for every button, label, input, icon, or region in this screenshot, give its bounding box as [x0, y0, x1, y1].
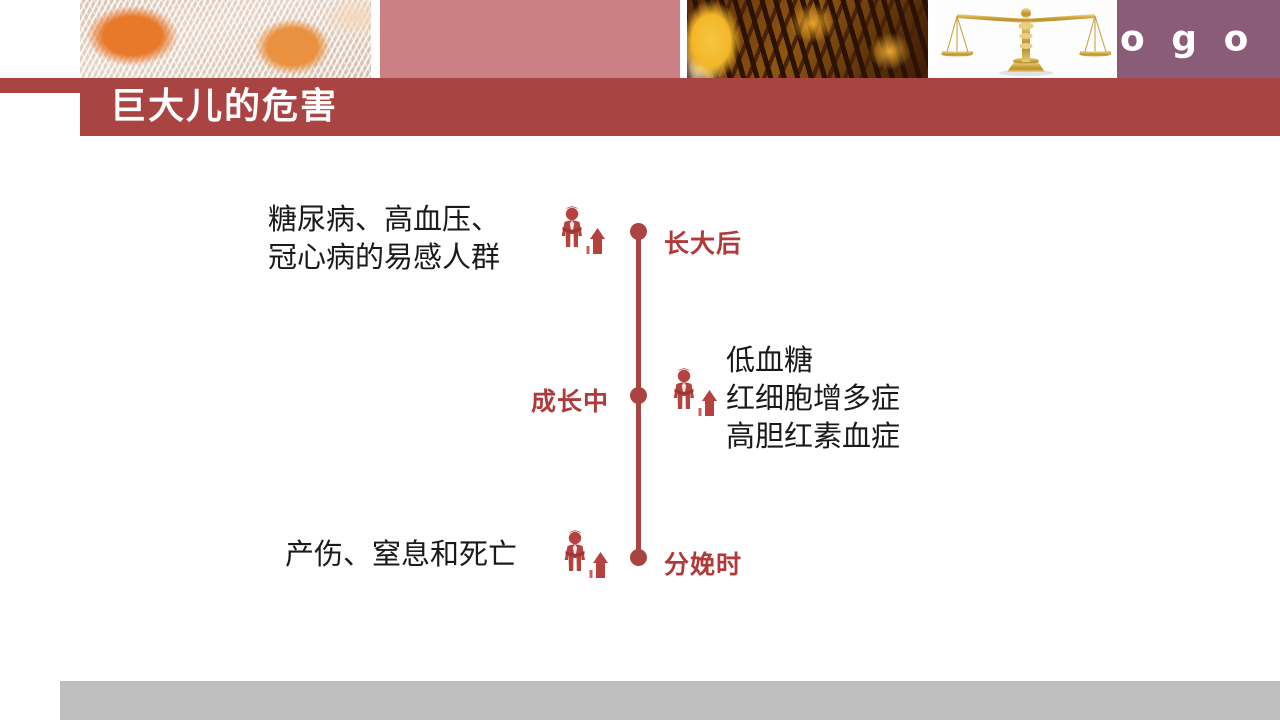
page-title: 巨大儿的危害 — [110, 83, 338, 131]
banner-image-sticky-rice — [80, 0, 371, 78]
timeline-dot-stage-1 — [630, 223, 647, 240]
logo-text: o g o — [1120, 19, 1255, 60]
timeline-dot-stage-3 — [630, 549, 647, 566]
timeline-body-stage-1: 糖尿病、高血压、 冠心病的易感人群 — [268, 200, 500, 276]
banner-color-block-rose — [380, 0, 680, 78]
banner-logo-block: o g o — [1117, 0, 1280, 78]
bottom-accent-bar — [60, 681, 1280, 720]
businessman-growth-icon — [669, 368, 721, 424]
timeline-body-stage-2: 低血糖 红细胞增多症 高胆红素血症 — [726, 341, 900, 455]
balance-scales-icon — [935, 0, 1117, 78]
banner-image-balance-scales — [935, 0, 1117, 78]
timeline-dot-stage-2 — [630, 387, 647, 404]
timeline-body-stage-3: 产伤、窒息和死亡 — [285, 535, 517, 573]
timeline-label-stage-2: 成长中 — [531, 382, 609, 418]
banner-image-fried-food — [687, 0, 928, 78]
businessman-growth-icon — [557, 206, 609, 262]
timeline-label-stage-1: 长大后 — [664, 224, 742, 260]
timeline-label-stage-3: 分娩时 — [664, 545, 742, 581]
top-banner-strip: o g o — [0, 0, 1280, 78]
businessman-growth-icon — [560, 530, 612, 586]
